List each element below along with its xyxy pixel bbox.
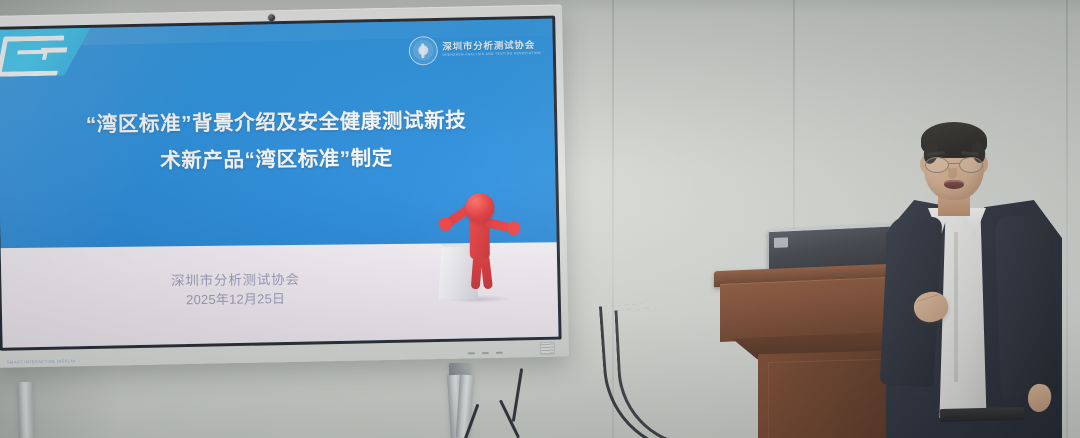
slide-title: “湾区标准”背景介绍及安全健康测试新技 术新产品“湾区标准”制定: [20, 101, 532, 181]
red-speaker-mascot-icon: [430, 193, 527, 304]
slide-title-line-2: 术新产品“湾区标准”制定: [21, 138, 533, 181]
presenter-arm: [995, 215, 1059, 399]
association-name-en: SHENZHEN ANALYSIS AND TESTING ASSOCIATIO…: [442, 52, 540, 57]
gba-corner-logo-icon: [0, 25, 93, 77]
display-stand-leg: [17, 382, 34, 438]
association-seal-icon: [408, 36, 438, 66]
display-control-keys[interactable]: [468, 352, 503, 355]
interactive-display[interactable]: SMART INTERACTIVE DISPLAY: [0, 4, 569, 367]
presenter-shirt-placket: [954, 232, 958, 382]
association-logo: 深圳市分析测试协会 SHENZHEN ANALYSIS AND TESTING …: [408, 34, 541, 66]
presenter-mouth: [944, 180, 964, 189]
presenter-nose: [948, 168, 957, 179]
presenter-belt: [940, 407, 1024, 422]
display-brand-label: SMART INTERACTIVE DISPLAY: [7, 358, 76, 364]
presentation-scene-photo: SMART INTERACTIVE DISPLAY: [0, 0, 1080, 438]
display-bezel: SMART INTERACTIVE DISPLAY: [0, 4, 569, 367]
presenter: [880, 112, 1080, 438]
laptop-badge: [774, 237, 788, 248]
display-inner-frame: 深圳市分析测试协会 SHENZHEN ANALYSIS AND TESTING …: [0, 16, 562, 351]
slide-screen[interactable]: 深圳市分析测试协会 SHENZHEN ANALYSIS AND TESTING …: [0, 19, 559, 348]
port-grid-icon: [540, 342, 555, 355]
slide-title-line-1: “湾区标准”背景介绍及安全健康测试新技: [20, 101, 532, 144]
